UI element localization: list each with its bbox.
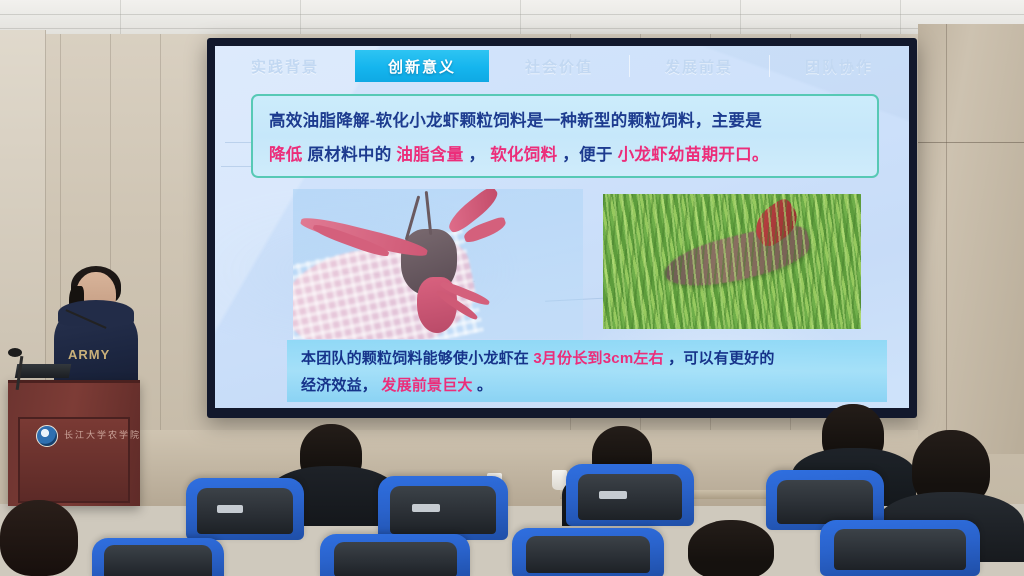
statement-line-1: 高效油脂降解-软化小龙虾颗粒饲料是一种新型的颗粒饲料，主要是: [269, 104, 863, 138]
conclusion-box: 本团队的颗粒饲料能够使小龙虾在 3月份长到3cm左右 ，可以有更好的 经济效益，…: [287, 340, 887, 402]
conclusion-l2-seg-2: 。: [477, 377, 492, 394]
statement-line-2: 降低 原材料中的 油脂含量 ， 软化饲料 ，便于 小龙虾幼苗期开口。: [269, 138, 863, 172]
crayfish-in-grass-photo: [603, 194, 861, 329]
audience-head: [0, 500, 78, 576]
slide: 实践背景 创新意义 社会价值 发展前景 团队协作 高效油脂降解-软化小龙虾颗粒饲…: [215, 46, 909, 408]
auditorium-seat[interactable]: [320, 534, 470, 576]
conclusion-l1-seg-1: 3月份长到3cm左右: [533, 350, 663, 367]
conclusion-line-2: 经济效益， 发展前景巨大 。: [301, 372, 875, 399]
conclusion-l1-seg-2: ，可以有更好的: [668, 350, 774, 367]
tab-practice-background[interactable]: 实践背景: [215, 50, 355, 82]
tab-team-collaboration[interactable]: 团队协作: [769, 50, 909, 82]
conclusion-l2-seg-1: 发展前景巨大: [381, 377, 472, 394]
auditorium-seat[interactable]: [378, 476, 508, 540]
tab-innovation-significance[interactable]: 创新意义: [355, 50, 489, 82]
tab-social-value[interactable]: 社会价值: [489, 50, 629, 82]
audience-head: [688, 520, 774, 576]
statement-l2-seg-1: 原材料中的: [308, 146, 392, 164]
auditorium-seat[interactable]: [566, 464, 694, 526]
university-emblem-icon: [36, 425, 58, 447]
hoodie-text: ARMY: [68, 347, 124, 362]
microphone-head: [8, 348, 22, 357]
podium: 长江大学农学院: [8, 380, 140, 506]
conclusion-line-1: 本团队的颗粒饲料能够使小龙虾在 3月份长到3cm左右 ，可以有更好的: [301, 345, 875, 372]
podium-laptop: [15, 364, 71, 378]
statement-l1-seg-0: 高效油脂降解-软化小龙虾颗粒饲料是一种新型的颗粒饲料，主要是: [269, 112, 762, 130]
slide-nav-tabs[interactable]: 实践背景 创新意义 社会价值 发展前景 团队协作: [215, 50, 909, 82]
crayfish-in-hand-photo: [293, 189, 583, 339]
statement-l2-seg-5: ，便于: [562, 146, 612, 164]
right-wall-panel: [918, 24, 1024, 454]
statement-l2-seg-3: ，: [468, 146, 485, 164]
auditorium-seat[interactable]: [512, 528, 664, 576]
podium-front-panel: 长江大学农学院: [18, 417, 130, 503]
conclusion-l1-seg-0: 本团队的颗粒饲料能够使小龙虾在: [301, 350, 529, 367]
auditorium-seat[interactable]: [186, 478, 304, 540]
tab-development-prospects[interactable]: 发展前景: [629, 50, 769, 82]
statement-l2-seg-2: 油脂含量: [396, 146, 463, 164]
auditorium-seat[interactable]: [820, 520, 980, 576]
statement-l2-seg-4: 软化饲料: [490, 146, 557, 164]
conference-room-scene: 实践背景 创新意义 社会价值 发展前景 团队协作 高效油脂降解-软化小龙虾颗粒饲…: [0, 0, 1024, 576]
statement-l2-seg-0: 降低: [269, 146, 303, 164]
conclusion-l2-seg-0: 经济效益，: [301, 377, 377, 394]
statement-l2-seg-6: 小龙虾幼苗期开口。: [618, 146, 769, 164]
institution-name: 长江大学农学院: [64, 428, 144, 444]
presentation-screen: 实践背景 创新意义 社会价值 发展前景 团队协作 高效油脂降解-软化小龙虾颗粒饲…: [207, 38, 917, 418]
auditorium-seat[interactable]: [92, 538, 224, 576]
statement-box: 高效油脂降解-软化小龙虾颗粒饲料是一种新型的颗粒饲料，主要是 降低 原材料中的 …: [251, 94, 879, 178]
